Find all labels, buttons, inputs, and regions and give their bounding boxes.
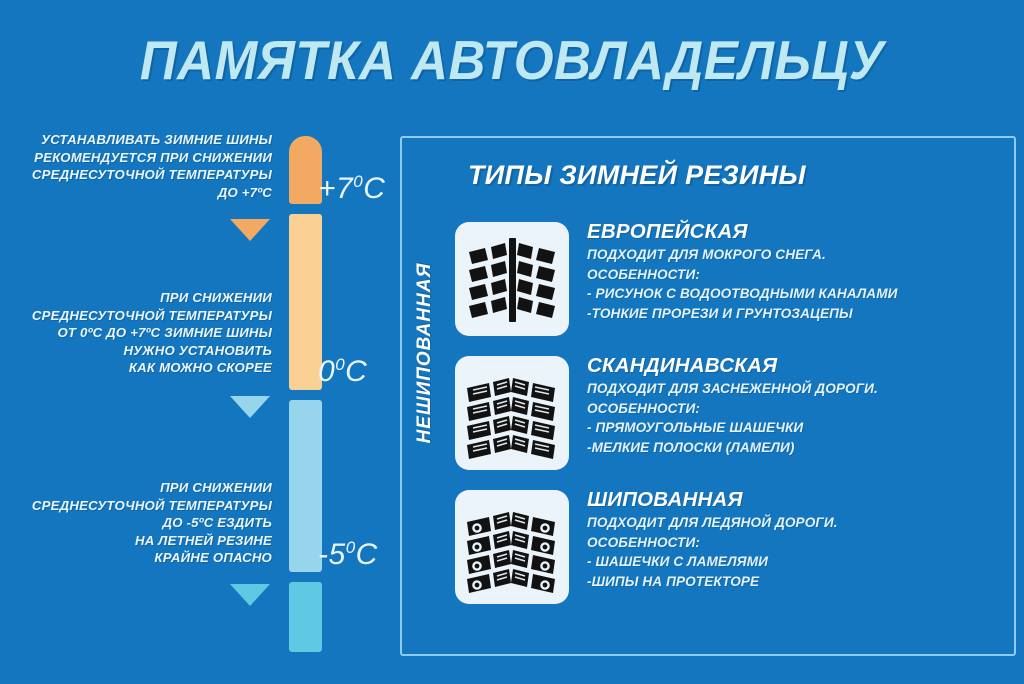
advice-line: НУЖНО УСТАНОВИТЬ <box>0 342 272 360</box>
tire-european-icon <box>455 222 569 336</box>
advice-block-minus-five: ПРИ СНИЖЕНИИ СРЕДНЕСУТОЧНОЙ ТЕМПЕРАТУРЫ … <box>0 479 272 567</box>
tire-row-european[interactable]: ЕВРОПЕЙСКАЯ ПОДХОДИТ ДЛЯ МОКРОГО СНЕГА. … <box>455 222 1015 340</box>
temp-unit: С <box>345 355 367 388</box>
tire-feature: - ШАШЕЧКИ С ЛАМЕЛЯМИ <box>587 552 1007 572</box>
tire-name: ШИПОВАННАЯ <box>587 488 1007 512</box>
tire-scandinavian-icon <box>455 356 569 470</box>
thermometer <box>289 136 322 652</box>
advice-line: ОТ 0ºС ДО +7ºС ЗИМНИЕ ШИНЫ <box>0 324 272 342</box>
panel-title: ТИПЫ ЗИМНЕЙ РЕЗИНЫ <box>468 160 806 191</box>
temp-value: +7 <box>318 172 353 205</box>
tire-feature: - РИСУНОК С ВОДООТВОДНЫМИ КАНАЛАМИ <box>587 284 1007 304</box>
advice-line: КАК МОЖНО СКОРЕЕ <box>0 359 272 377</box>
advice-block-zero: ПРИ СНИЖЕНИИ СРЕДНЕСУТОЧНОЙ ТЕМПЕРАТУРЫ … <box>0 289 272 377</box>
vertical-label-non-studded: НЕШИПОВАННАЯ <box>414 228 444 478</box>
tire-feature: -ТОНКИЕ ПРОРЕЗИ И ГРУНТОЗАЦЕПЫ <box>587 304 1007 324</box>
tire-usage: ПОДХОДИТ ДЛЯ ЛЕДЯНОЙ ДОРОГИ. <box>587 513 1007 533</box>
advice-line: СРЕДНЕСУТОЧНОЙ ТЕМПЕРАТУРЫ <box>0 166 272 184</box>
thermometer-label-plus-seven: +70С <box>318 172 385 206</box>
temp-unit: С <box>363 172 385 205</box>
tire-text-european: ЕВРОПЕЙСКАЯ ПОДХОДИТ ДЛЯ МОКРОГО СНЕГА. … <box>587 220 1007 323</box>
thermometer-label-minus-five: -50С <box>318 538 378 572</box>
degree-symbol: 0 <box>335 355 345 374</box>
advice-line: СРЕДНЕСУТОЧНОЙ ТЕМПЕРАТУРЫ <box>0 497 272 515</box>
tire-text-scandinavian: СКАНДИНАВСКАЯ ПОДХОДИТ ДЛЯ ЗАСНЕЖЕННОЙ Д… <box>587 354 1007 457</box>
advice-line: ДО +7ºС <box>0 184 272 202</box>
advice-line: РЕКОМЕНДУЕТСЯ ПРИ СНИЖЕНИИ <box>0 149 272 167</box>
advice-line: КРАЙНЕ ОПАСНО <box>0 549 272 567</box>
advice-line: ДО -5ºС ЕЗДИТЬ <box>0 514 272 532</box>
tire-row-studded[interactable]: ШИПОВАННАЯ ПОДХОДИТ ДЛЯ ЛЕДЯНОЙ ДОРОГИ. … <box>455 490 1015 608</box>
arrow-down-icon-cold <box>230 584 270 606</box>
non-studded-group: НЕШИПОВАННАЯ <box>414 225 450 480</box>
tire-usage: ПОДХОДИТ ДЛЯ ЗАСНЕЖЕННОЙ ДОРОГИ. <box>587 379 1007 399</box>
thermometer-label-zero: 00С <box>318 355 367 389</box>
degree-symbol: 0 <box>353 172 363 191</box>
advice-line: НА ЛЕТНЕЙ РЕЗИНЕ <box>0 532 272 550</box>
advice-line: ПРИ СНИЖЕНИИ <box>0 289 272 307</box>
infographic-canvas: ПАМЯТКА АВТОВЛАДЕЛЬЦУ +70С 00С -50С УСТА… <box>0 0 1024 684</box>
degree-symbol: 0 <box>346 538 356 557</box>
arrow-down-icon-hot <box>230 219 270 241</box>
advice-block-plus-seven: УСТАНАВЛИВАТЬ ЗИМНИЕ ШИНЫ РЕКОМЕНДУЕТСЯ … <box>0 131 272 201</box>
tire-name: ЕВРОПЕЙСКАЯ <box>587 220 1007 244</box>
tire-feature: -ШИПЫ НА ПРОТЕКТОРЕ <box>587 572 1007 592</box>
tire-features-label: ОСОБЕННОСТИ: <box>587 533 1007 553</box>
tire-text-studded: ШИПОВАННАЯ ПОДХОДИТ ДЛЯ ЛЕДЯНОЙ ДОРОГИ. … <box>587 488 1007 591</box>
thermometer-segment-cold <box>289 582 322 652</box>
temp-unit: С <box>356 538 378 571</box>
tire-name: СКАНДИНАВСКАЯ <box>587 354 1007 378</box>
advice-line: УСТАНАВЛИВАТЬ ЗИМНИЕ ШИНЫ <box>0 131 272 149</box>
advice-line: СРЕДНЕСУТОЧНОЙ ТЕМПЕРАТУРЫ <box>0 307 272 325</box>
page-title: ПАМЯТКА АВТОВЛАДЕЛЬЦУ <box>36 28 988 92</box>
temp-value: 0 <box>318 355 335 388</box>
advice-line: ПРИ СНИЖЕНИИ <box>0 479 272 497</box>
arrow-down-icon-cool <box>230 396 270 418</box>
tire-feature: - ПРЯМОУГОЛЬНЫЕ ШАШЕЧКИ <box>587 418 1007 438</box>
tire-features-label: ОСОБЕННОСТИ: <box>587 399 1007 419</box>
tire-usage: ПОДХОДИТ ДЛЯ МОКРОГО СНЕГА. <box>587 245 1007 265</box>
temp-value: -5 <box>318 538 346 571</box>
tire-features-label: ОСОБЕННОСТИ: <box>587 265 1007 285</box>
tire-studded-icon <box>455 490 569 604</box>
tire-row-scandinavian[interactable]: СКАНДИНАВСКАЯ ПОДХОДИТ ДЛЯ ЗАСНЕЖЕННОЙ Д… <box>455 356 1015 474</box>
tire-feature: -МЕЛКИЕ ПОЛОСКИ (ЛАМЕЛИ) <box>587 438 1007 458</box>
